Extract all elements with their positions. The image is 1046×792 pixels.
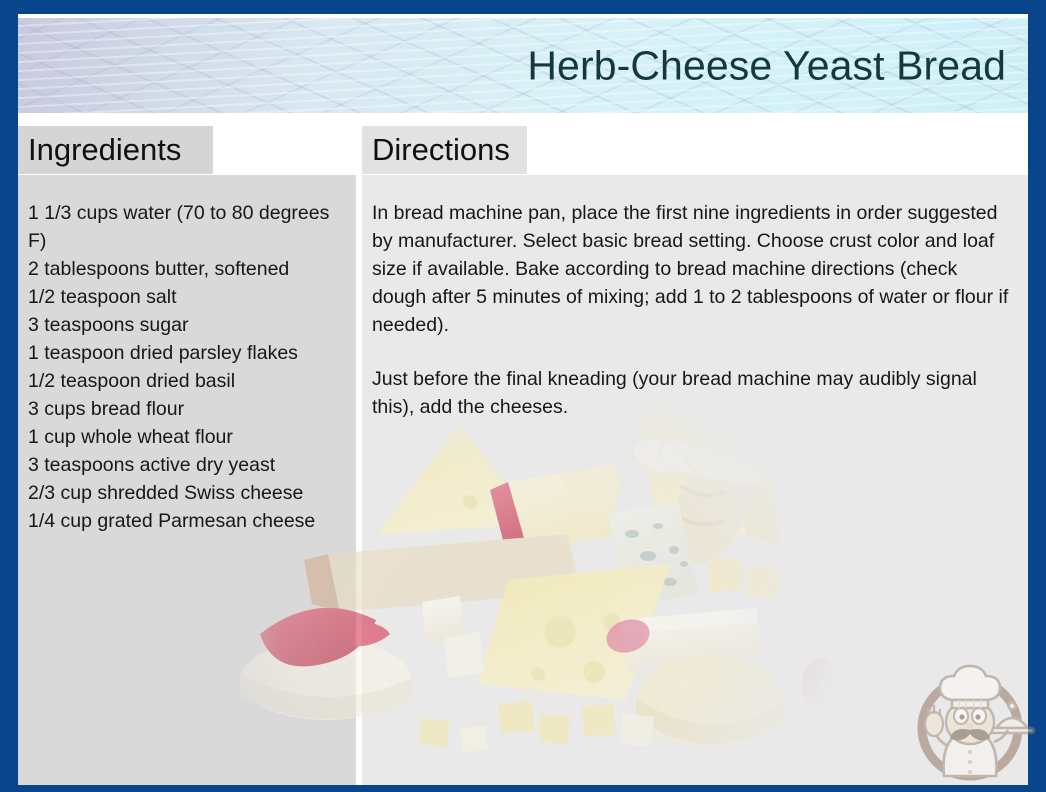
recipe-card: Herb-Cheese Yeast Bread Ingredients 1 1/… <box>0 0 1046 792</box>
ingredients-panel: 1 1/3 cups water (70 to 80 degrees F) 2 … <box>18 175 356 785</box>
list-item: 1 teaspoon dried parsley flakes <box>28 339 348 367</box>
list-item: 2/3 cup shredded Swiss cheese <box>28 479 348 507</box>
directions-paragraph: Just before the final kneading (your bre… <box>372 365 1014 421</box>
list-item: 1 cup whole wheat flour <box>28 423 348 451</box>
list-item: 1/2 teaspoon dried basil <box>28 367 348 395</box>
list-item: 2 tablespoons butter, softened <box>28 255 348 283</box>
title-banner: Herb-Cheese Yeast Bread <box>18 18 1028 113</box>
ingredient-list: 1 1/3 cups water (70 to 80 degrees F) 2 … <box>28 199 348 535</box>
directions-column: Directions In bread machine pan, place t… <box>362 126 1028 785</box>
directions-panel: In bread machine pan, place the first ni… <box>362 175 1028 785</box>
directions-paragraph: In bread machine pan, place the first ni… <box>372 199 1014 339</box>
page-title: Herb-Cheese Yeast Bread <box>527 42 1006 89</box>
directions-text: In bread machine pan, place the first ni… <box>372 199 1020 421</box>
list-item: 1 1/3 cups water (70 to 80 degrees F) <box>28 199 348 255</box>
list-item: 3 teaspoons sugar <box>28 311 348 339</box>
list-item: 3 cups bread flour <box>28 395 348 423</box>
list-item: 1/4 cup grated Parmesan cheese <box>28 507 348 535</box>
content-columns: Ingredients 1 1/3 cups water (70 to 80 d… <box>18 126 1028 785</box>
ingredients-column: Ingredients 1 1/3 cups water (70 to 80 d… <box>18 126 356 785</box>
list-item: 3 teaspoons active dry yeast <box>28 451 348 479</box>
ingredients-heading: Ingredients <box>18 126 213 174</box>
directions-heading: Directions <box>362 126 527 174</box>
list-item: 1/2 teaspoon salt <box>28 283 348 311</box>
